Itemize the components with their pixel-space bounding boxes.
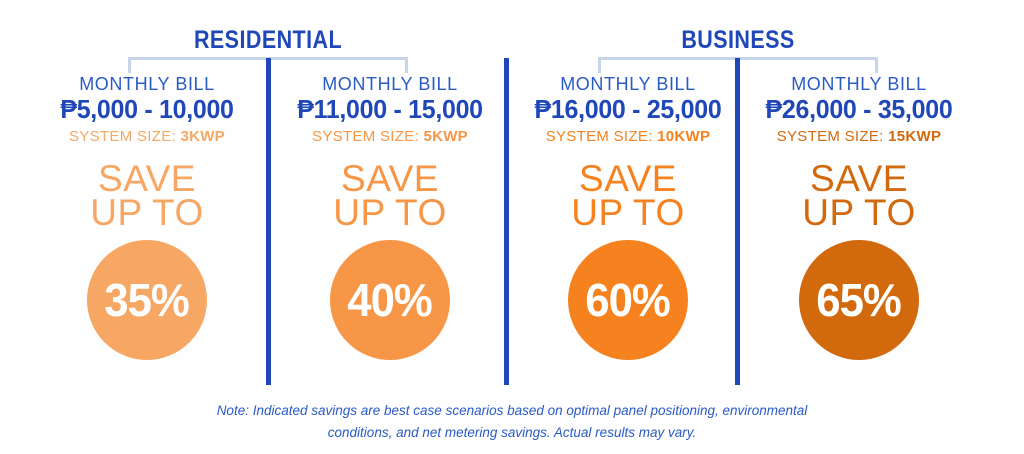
footnote-line-1: Note: Indicated savings are best case sc… — [0, 400, 1024, 422]
percent-circle: 65% — [799, 240, 919, 360]
monthly-bill-amount: ₱5,000 - 10,000 — [33, 95, 261, 123]
save-up-to-text: SAVE UP TO — [740, 162, 978, 230]
percent-circle: 60% — [568, 240, 688, 360]
system-size: SYSTEM SIZE: 5KWP — [271, 128, 509, 146]
group-title-residential: RESIDENTIAL — [148, 26, 389, 55]
system-size-label: SYSTEM SIZE: — [69, 128, 176, 145]
monthly-bill-amount: ₱11,000 - 15,000 — [276, 95, 504, 123]
system-size-value: 5KWP — [423, 128, 468, 145]
tier-column-4: MONTHLY BILL ₱26,000 - 35,000 SYSTEM SIZ… — [740, 74, 978, 360]
save-line-2: UP TO — [28, 196, 266, 230]
monthly-bill-label: MONTHLY BILL — [740, 74, 978, 94]
save-line-2: UP TO — [509, 196, 747, 230]
percent-circle-wrap: 60% — [509, 240, 747, 360]
monthly-bill-label: MONTHLY BILL — [271, 74, 509, 94]
system-size-label: SYSTEM SIZE: — [546, 128, 653, 145]
save-line-1: SAVE — [28, 162, 266, 196]
percent-value: 65% — [817, 277, 902, 323]
tier-column-1: MONTHLY BILL ₱5,000 - 10,000 SYSTEM SIZE… — [28, 74, 266, 360]
save-line-1: SAVE — [509, 162, 747, 196]
system-size: SYSTEM SIZE: 10KWP — [509, 128, 747, 146]
system-size: SYSTEM SIZE: 3KWP — [28, 128, 266, 146]
system-size-label: SYSTEM SIZE: — [777, 128, 884, 145]
save-up-to-text: SAVE UP TO — [28, 162, 266, 230]
percent-value: 60% — [586, 277, 671, 323]
percent-value: 35% — [105, 277, 190, 323]
percent-value: 40% — [348, 277, 433, 323]
footnote-note: Note: Indicated savings are best case sc… — [0, 400, 1024, 444]
system-size-value: 10KWP — [657, 128, 710, 145]
percent-circle: 40% — [330, 240, 450, 360]
system-size-value: 3KWP — [180, 128, 225, 145]
monthly-bill-label: MONTHLY BILL — [509, 74, 747, 94]
monthly-bill-amount: ₱26,000 - 35,000 — [745, 95, 973, 123]
system-size-value: 15KWP — [888, 128, 941, 145]
save-line-2: UP TO — [740, 196, 978, 230]
save-up-to-text: SAVE UP TO — [509, 162, 747, 230]
system-size: SYSTEM SIZE: 15KWP — [740, 128, 978, 146]
percent-circle-wrap: 40% — [271, 240, 509, 360]
monthly-bill-amount: ₱16,000 - 25,000 — [514, 95, 742, 123]
tier-column-3: MONTHLY BILL ₱16,000 - 25,000 SYSTEM SIZ… — [509, 74, 747, 360]
percent-circle: 35% — [87, 240, 207, 360]
percent-circle-wrap: 65% — [740, 240, 978, 360]
percent-circle-wrap: 35% — [28, 240, 266, 360]
monthly-bill-label: MONTHLY BILL — [28, 74, 266, 94]
tier-column-2: MONTHLY BILL ₱11,000 - 15,000 SYSTEM SIZ… — [271, 74, 509, 360]
system-size-label: SYSTEM SIZE: — [312, 128, 419, 145]
save-line-2: UP TO — [271, 196, 509, 230]
save-line-1: SAVE — [271, 162, 509, 196]
save-up-to-text: SAVE UP TO — [271, 162, 509, 230]
footnote-line-2: conditions, and net metering savings. Ac… — [0, 422, 1024, 444]
group-title-business: BUSINESS — [618, 26, 859, 55]
save-line-1: SAVE — [740, 162, 978, 196]
